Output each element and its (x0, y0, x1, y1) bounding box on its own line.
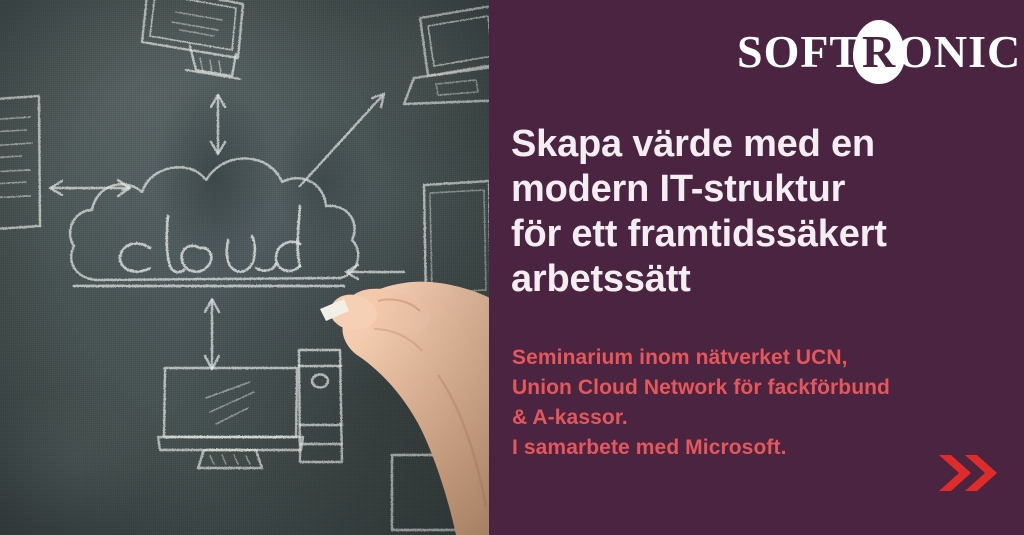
event-subtitle: Seminarium inom nätverket UCN, Union Clo… (512, 343, 1012, 463)
softronic-seminar-banner: SOFTRONIC Skapa värde med en modern IT-s… (0, 0, 1024, 535)
logo-prefix: SOFT (737, 24, 861, 80)
logo-wordmark: SOFTRONIC (737, 24, 1005, 80)
softronic-logo[interactable]: SOFTRONIC (737, 24, 1005, 80)
chalkboard-photo (0, 0, 489, 535)
photo-vignette (0, 0, 489, 535)
headline-line-4: arbetssätt (511, 257, 1001, 302)
logo-suffix: ONIC (897, 24, 1021, 80)
double-chevron-right-icon[interactable] (937, 451, 999, 495)
content-panel: SOFTRONIC Skapa värde med en modern IT-s… (489, 0, 1024, 535)
headline-line-2: modern IT-struktur (511, 167, 1001, 212)
subtitle-line-3: & A-kassor. (512, 403, 1012, 433)
headline-line-3: för ett framtidssäkert (511, 212, 1001, 257)
subtitle-line-1: Seminarium inom nätverket UCN, (512, 343, 1012, 373)
page-title: Skapa värde med en modern IT-struktur fö… (511, 122, 1001, 302)
headline-line-1: Skapa värde med en (511, 122, 1001, 167)
logo-r-badge: R (861, 24, 897, 80)
subtitle-line-2: Union Cloud Network för fackförbund (512, 373, 1012, 403)
logo-highlight-letter: R (862, 26, 896, 77)
